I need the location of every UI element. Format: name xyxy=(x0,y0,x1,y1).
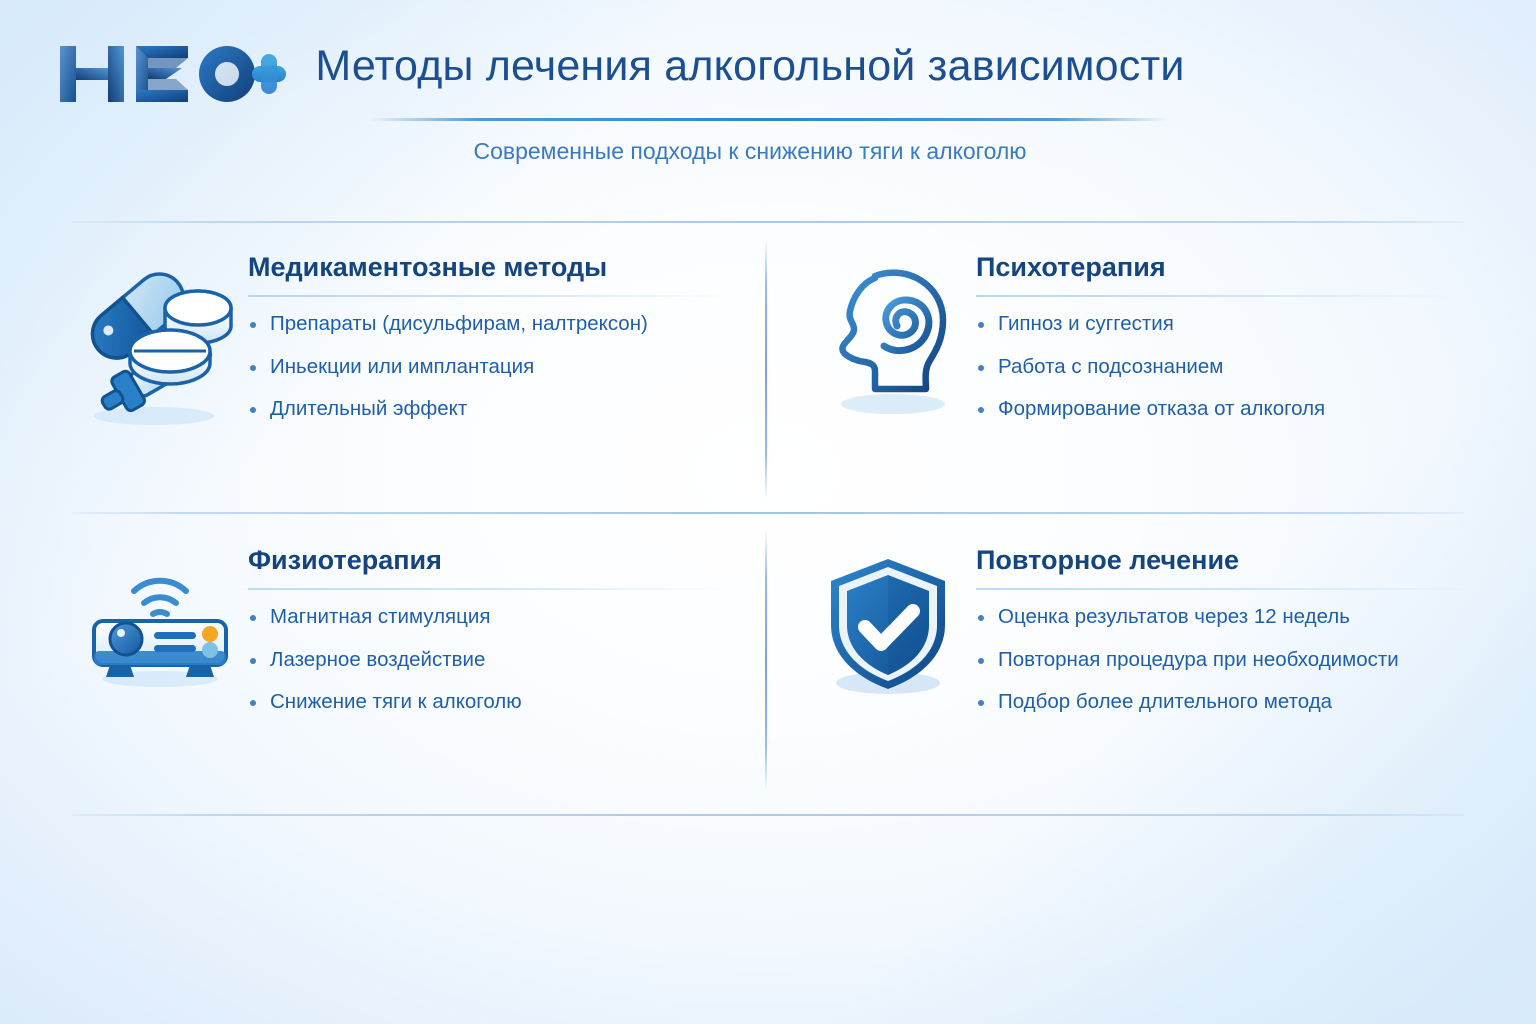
divider-vertical-top xyxy=(765,238,767,500)
logo-plus xyxy=(252,54,286,94)
list-item: Препараты (дисульфирам, налтрексон) xyxy=(248,311,732,338)
logo-letter-e xyxy=(136,46,188,102)
card-title-rule xyxy=(248,295,732,297)
card-title-rule xyxy=(976,588,1480,590)
logo-letter-n xyxy=(60,46,124,102)
card-title-rule xyxy=(248,588,732,590)
list-item: Длительный эффект xyxy=(248,396,732,423)
card-medication: Медикаментозные методы Препараты (дисуль… xyxy=(72,252,732,428)
list-item: Работа с подсознанием xyxy=(976,354,1460,381)
card-physiotherapy: Физиотерапия Магнитная стимуляция Лазерн… xyxy=(72,545,732,716)
card-title: Повторное лечение xyxy=(976,545,1480,576)
signal-waves xyxy=(134,581,186,614)
pill-round-scored xyxy=(130,330,210,384)
neo-plus-logo xyxy=(56,38,288,110)
card-title: Физиотерапия xyxy=(248,545,732,576)
page-subtitle: Современные подходы к снижению тяги к ал… xyxy=(300,138,1200,165)
bullet-list: Гипноз и суггестия Работа с подсознанием… xyxy=(976,311,1460,423)
logo-letter-o xyxy=(199,46,255,102)
list-item: Иньекции или имплантация xyxy=(248,354,732,381)
list-item: Подбор более длительного метода xyxy=(976,689,1480,716)
card-psychotherapy: Психотерапия Гипноз и суггестия Работа с… xyxy=(800,252,1460,426)
divider-bottom xyxy=(72,814,1464,816)
list-item: Повторная процедура при необходимости xyxy=(976,647,1480,674)
list-item: Гипноз и суггестия xyxy=(976,311,1460,338)
list-item: Магнитная стимуляция xyxy=(248,604,732,631)
bullet-list: Препараты (дисульфирам, налтрексон) Инье… xyxy=(248,311,732,423)
card-body: Медикаментозные методы Препараты (дисуль… xyxy=(248,252,732,428)
list-item: Лазерное воздействие xyxy=(248,647,732,674)
physio-device-waves-icon xyxy=(72,545,248,716)
bullet-list: Оценка результатов через 12 недель Повто… xyxy=(976,604,1480,716)
pills-syringe-icon xyxy=(72,252,248,428)
list-item: Снижение тяги к алкоголю xyxy=(248,689,732,716)
page-title: Методы лечения алкогольной зависимости xyxy=(300,42,1200,91)
divider-top xyxy=(72,221,1464,223)
card-title: Медикаментозные методы xyxy=(248,252,732,283)
shield-check-icon xyxy=(800,545,976,716)
card-repeat-treatment: Повторное лечение Оценка результатов чер… xyxy=(800,545,1480,716)
list-item: Формирование отказа от алкоголя xyxy=(976,396,1460,423)
divider-vertical-bottom xyxy=(765,530,767,792)
divider-middle xyxy=(72,512,1464,514)
head-spiral-hypnosis-icon xyxy=(800,252,976,426)
card-body: Психотерапия Гипноз и суггестия Работа с… xyxy=(976,252,1460,426)
card-body: Повторное лечение Оценка результатов чер… xyxy=(976,545,1480,716)
infographic-canvas: Методы лечения алкогольной зависимости С… xyxy=(0,0,1536,1024)
card-body: Физиотерапия Магнитная стимуляция Лазерн… xyxy=(248,545,732,716)
list-item: Оценка результатов через 12 недель xyxy=(976,604,1480,631)
card-title-rule xyxy=(976,295,1460,297)
card-title: Психотерапия xyxy=(976,252,1460,283)
title-accent-rule xyxy=(368,118,1168,121)
bullet-list: Магнитная стимуляция Лазерное воздействи… xyxy=(248,604,732,716)
